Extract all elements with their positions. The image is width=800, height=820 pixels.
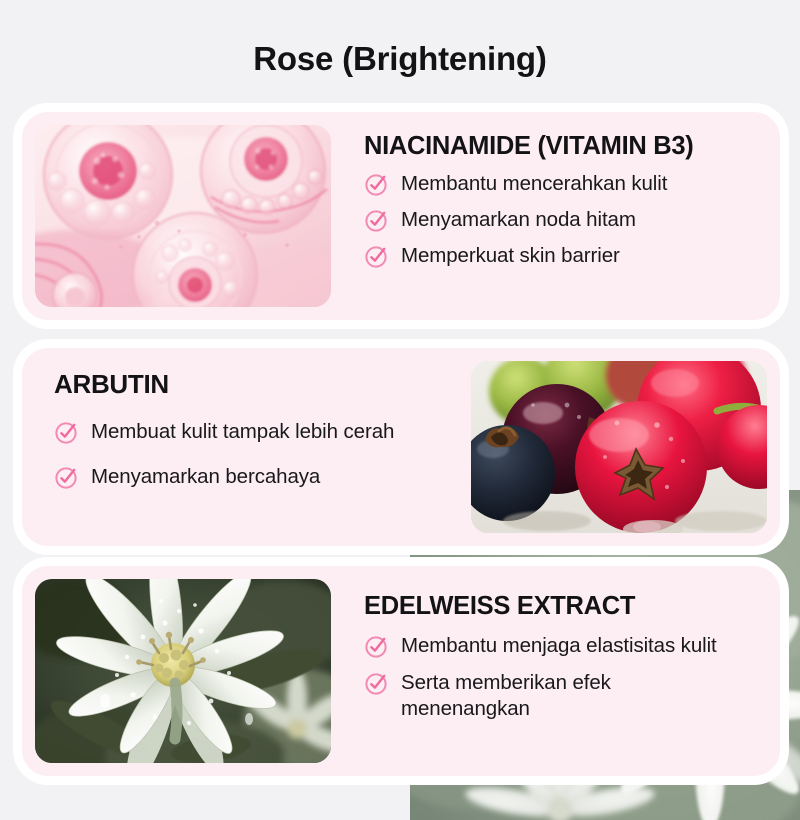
edelweiss-flower-photo [35,579,331,763]
check-circle-icon [364,671,389,696]
benefit-text: Membantu menjaga elastisitas kulit [401,633,717,659]
ingredient-card-niacinamide: NIACINAMIDE (VITAMIN B3) Membantu mencer… [22,112,780,320]
benefit-text: Menyamarkan noda hitam [401,207,636,233]
list-item: Membantu menjaga elastisitas kulit [364,633,762,659]
card-body: ARBUTIN Membuat kulit tampak lebih cerah… [22,348,458,546]
benefit-text: Memperkuat skin barrier [401,243,620,269]
infographic-page: Rose (Brightening) [0,0,800,800]
ingredient-name: NIACINAMIDE (VITAMIN B3) [364,132,762,160]
benefit-text: Membantu mencerahkan kulit [401,171,667,197]
benefit-text: Serta memberikan efek menenangkan [401,670,671,722]
list-item: Menyamarkan noda hitam [364,207,762,233]
list-item: Menyamarkan bercahaya [54,464,440,490]
check-circle-icon [54,465,79,490]
ingredient-name: ARBUTIN [54,370,440,399]
ingredient-card-edelweiss: EDELWEISS EXTRACT Membantu menjaga elast… [22,566,780,776]
benefit-list: Membantu menjaga elastisitas kulit Serta… [364,633,762,733]
ingredient-name: EDELWEISS EXTRACT [364,592,762,620]
check-circle-icon [364,634,389,659]
benefit-list: Membuat kulit tampak lebih cerah Menyama… [54,419,440,509]
check-circle-icon [364,172,389,197]
list-item: Serta memberikan efek menenangkan [364,670,762,722]
bearberry-fruit-photo [471,361,767,533]
list-item: Memperkuat skin barrier [364,243,762,269]
card-body: NIACINAMIDE (VITAMIN B3) Membantu mencer… [344,112,780,320]
benefit-list: Membantu mencerahkan kulit Menyamarkan n… [364,171,762,279]
page-title: Rose (Brightening) [0,40,800,78]
benefit-text: Menyamarkan bercahaya [91,464,320,490]
check-circle-icon [364,208,389,233]
ingredient-card-arbutin: ARBUTIN Membuat kulit tampak lebih cerah… [22,348,780,546]
list-item: Membuat kulit tampak lebih cerah [54,419,440,445]
check-circle-icon [364,244,389,269]
benefit-text: Membuat kulit tampak lebih cerah [91,419,394,445]
pink-serum-petri-dish-photo [35,125,331,307]
check-circle-icon [54,420,79,445]
card-body: EDELWEISS EXTRACT Membantu menjaga elast… [344,566,780,776]
list-item: Membantu mencerahkan kulit [364,171,762,197]
